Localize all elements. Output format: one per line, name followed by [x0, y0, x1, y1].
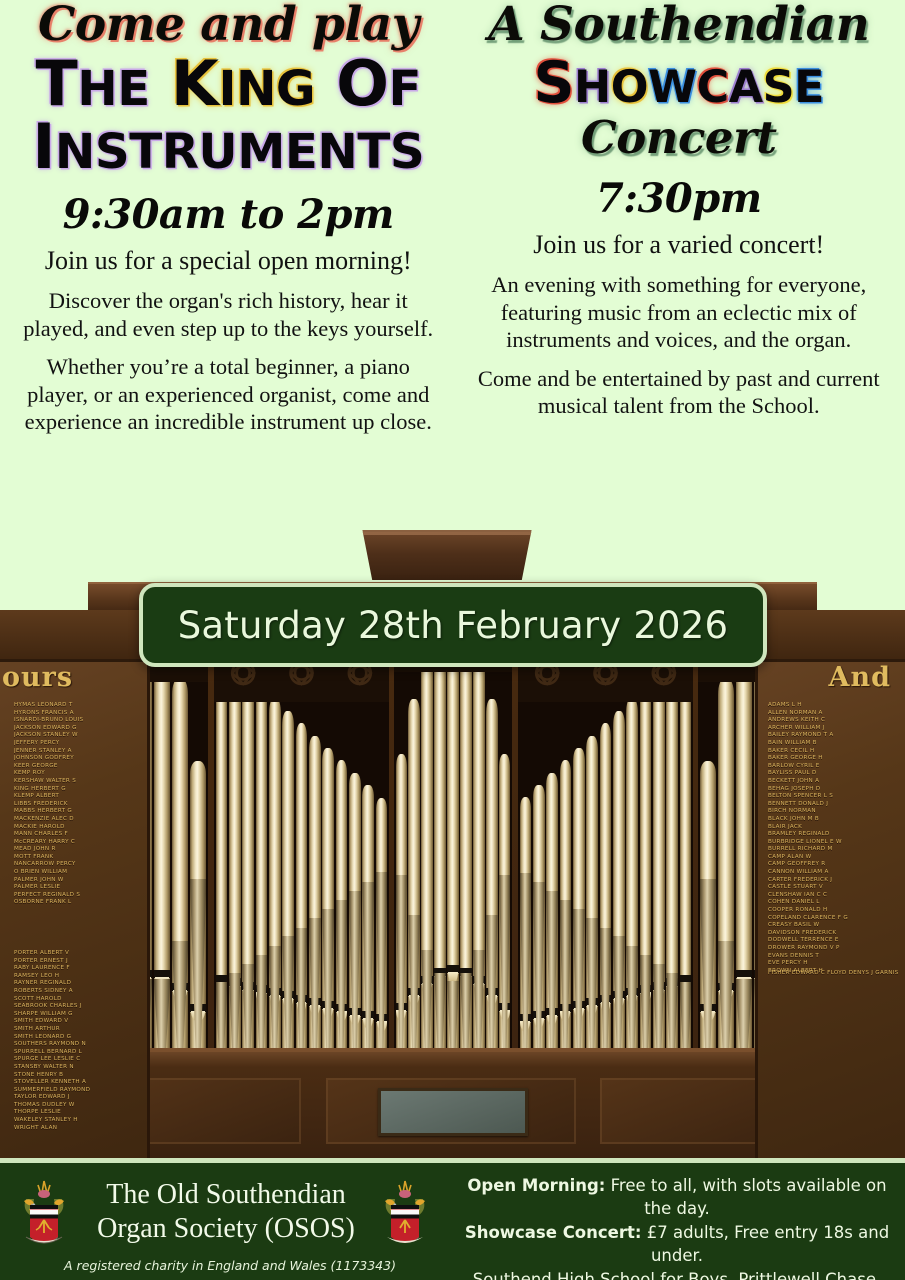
open-morning-pricing-label: Open Morning:	[467, 1176, 605, 1195]
poster: ours HYMAS LEONARD T HYRONS FRANCIS A IS…	[0, 0, 905, 1280]
organ-pipe	[600, 723, 612, 1090]
organ-pipe	[172, 678, 189, 1090]
organ-dedication-plaque	[378, 1088, 528, 1136]
organ-pipe	[242, 674, 254, 1090]
organ-pipe	[653, 674, 665, 1090]
organ-pipe	[336, 760, 348, 1090]
open-morning-pricing-value: Free to all, with slots available on the…	[605, 1176, 886, 1218]
organ-photograph: ours HYMAS LEONARD T HYRONS FRANCIS A IS…	[0, 470, 905, 1160]
memorial-board-left-word: ours	[0, 662, 147, 693]
organ-pipe-group	[394, 610, 512, 1090]
open-morning-pricing-line: Open Morning: Free to all, with slots av…	[459, 1174, 895, 1221]
organ-pipe	[269, 698, 281, 1090]
organ-pipe	[560, 760, 572, 1090]
memorial-board-right-header	[758, 610, 905, 662]
concert-lead: Join us for a varied concert!	[463, 230, 896, 260]
organ-pipe	[533, 785, 545, 1090]
organ-pipe	[349, 773, 361, 1090]
organ-top-cornice	[362, 528, 532, 580]
concert-paragraph-2: Come and be entertained by past and curr…	[463, 365, 896, 420]
poster-footer: The Old Southendian Organ Society (OSOS)…	[0, 1158, 905, 1280]
organ-pipe	[573, 748, 585, 1090]
memorial-board-right-names-2: FISHER EDWARD C FLOYD DENYS J GARNISH JE…	[768, 970, 899, 1156]
organ-pipe	[546, 773, 558, 1090]
title-king-of-line: THE KING OF	[14, 54, 443, 115]
organ-pipe	[520, 797, 532, 1090]
organ-pipe	[460, 621, 471, 1090]
organ-pipe	[586, 736, 598, 1090]
organ-pipe	[680, 649, 692, 1090]
organ-pipe	[216, 649, 228, 1090]
organ-pipe	[190, 761, 207, 1090]
organ-pipe	[626, 698, 638, 1090]
open-morning-paragraph-2: Whether you’re a total beginner, a piano…	[14, 353, 443, 435]
organ-pipe	[640, 686, 652, 1090]
date-banner-text: Saturday 28th February 2026	[178, 604, 729, 647]
a-southendian-script: A Southendian	[463, 0, 896, 50]
organ-pipe	[499, 754, 510, 1090]
organ-pipe	[396, 754, 407, 1090]
organ-pipe	[473, 652, 484, 1090]
concert-pricing-label: Showcase Concert:	[465, 1223, 642, 1242]
organ-pipe	[282, 711, 294, 1090]
venue-address: Southend High School for Boys, Prittlewe…	[459, 1268, 895, 1280]
memorial-board-left: ours HYMAS LEONARD T HYRONS FRANCIS A IS…	[0, 610, 150, 1160]
date-banner: Saturday 28th February 2026	[139, 583, 767, 667]
open-morning-lead: Join us for a special open morning!	[14, 246, 443, 276]
organ-pipe	[376, 798, 388, 1090]
charity-registration-text: A registered charity in England and Wale…	[40, 1258, 420, 1273]
organ-pipe	[613, 711, 625, 1090]
concert-script: Concert	[463, 114, 896, 162]
organ-pipe	[700, 761, 717, 1090]
open-morning-paragraph-1: Discover the organ's rich history, hear …	[14, 287, 443, 342]
osos-crest-icon-right	[377, 1179, 433, 1251]
come-and-play-script: Come and play	[14, 0, 443, 50]
society-name-line-2: Organ Society (OSOS)	[76, 1212, 376, 1246]
organ-lower-case	[88, 1048, 817, 1160]
organ-pipe	[447, 610, 458, 1090]
concert-pricing-line: Showcase Concert: £7 adults, Free entry …	[459, 1221, 895, 1268]
organ-pipe	[229, 661, 241, 1090]
organ-pipe	[322, 748, 334, 1090]
title-showcase-line: SHOWCASE	[463, 56, 896, 112]
organ-pipe	[666, 661, 678, 1090]
memorial-board-right: And ADAMS L H ALLEN NORMAN A ANDREWS KEI…	[755, 610, 905, 1160]
concert-pricing-value: £7 adults, Free entry 18s and under.	[641, 1223, 889, 1265]
organ-pipe	[362, 785, 374, 1090]
organ-pipe	[154, 627, 171, 1090]
organ-pipe	[736, 627, 753, 1090]
footer-info-block: Open Morning: Free to all, with slots av…	[455, 1163, 905, 1280]
organ-pipe	[434, 621, 445, 1090]
organ-pipe-group	[214, 640, 389, 1090]
society-name-line-1: The Old Southendian	[76, 1178, 376, 1212]
organ-pipe-group	[518, 640, 693, 1090]
society-name: The Old Southendian Organ Society (OSOS)	[76, 1178, 376, 1246]
concert-time: 7:30pm	[463, 175, 896, 222]
memorial-board-left-names-2: PORTER ALBERT V PORTER ERNEST J RABY LAU…	[14, 950, 141, 1156]
open-morning-column: Come and play THE KING OF INSTRUMENTS 9:…	[0, 0, 453, 530]
open-morning-time: 9:30am to 2pm	[14, 191, 443, 238]
organ-pipe	[421, 652, 432, 1090]
memorial-board-right-word: And	[758, 662, 905, 693]
title-instruments-line: INSTRUMENTS	[14, 117, 443, 178]
concert-paragraph-1: An evening with something for everyone, …	[463, 271, 896, 353]
organ-pipe	[309, 736, 321, 1090]
footer-society-block: The Old Southendian Organ Society (OSOS)…	[0, 1163, 455, 1280]
showcase-concert-column: A Southendian SHOWCASE Concert 7:30pm Jo…	[453, 0, 905, 530]
organ-pipe	[256, 686, 268, 1090]
poster-header: Come and play THE KING OF INSTRUMENTS 9:…	[0, 0, 905, 530]
memorial-board-left-header	[0, 610, 147, 662]
osos-crest-icon-left	[16, 1179, 72, 1251]
organ-pipe	[408, 699, 419, 1090]
organ-pipe	[486, 699, 497, 1090]
organ-pipe	[296, 723, 308, 1090]
organ-pipe	[718, 678, 735, 1090]
